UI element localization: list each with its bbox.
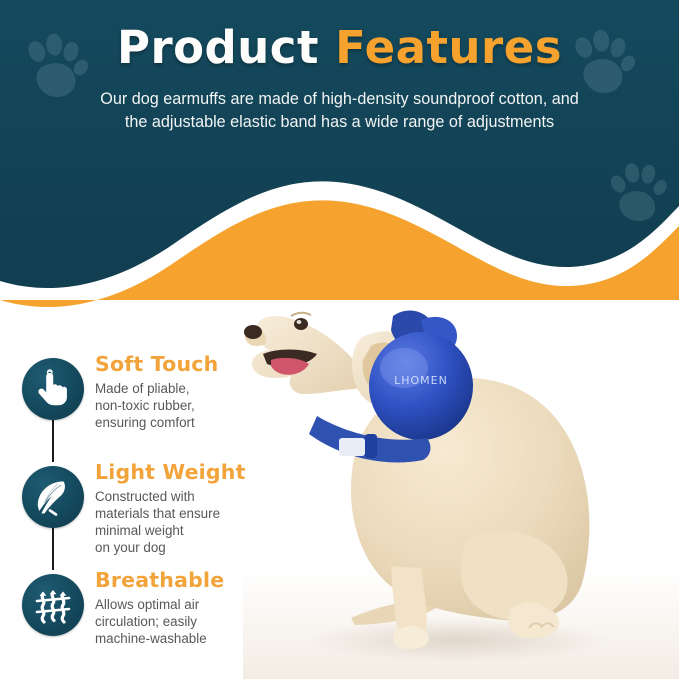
page-title: Product Features <box>0 24 679 71</box>
svg-text:LHOMEN: LHOMEN <box>394 374 448 387</box>
feature-description: Constructed with materials that ensure m… <box>95 488 280 557</box>
feature-text-light-weight: Light Weight Constructed with materials … <box>95 462 280 557</box>
hand-touch-icon <box>22 358 84 420</box>
feature-connector-2 <box>52 528 54 570</box>
feature-title: Soft Touch <box>95 354 280 376</box>
feature-title: Light Weight <box>95 462 280 484</box>
feature-connector-1 <box>52 420 54 462</box>
header-subtitle: Our dog earmuffs are made of high-densit… <box>28 88 651 134</box>
airflow-icon <box>22 574 84 636</box>
feature-title: Breathable <box>95 570 280 592</box>
dog-wearing-earmuffs-photo: LHOMEN <box>243 268 679 679</box>
feature-text-soft-touch: Soft Touch Made of pliable, non-toxic ru… <box>95 354 280 431</box>
header-title-wrap: Product Features <box>0 24 679 71</box>
product-features-infographic: Product Features Our dog earmuffs are ma… <box>0 0 679 679</box>
title-word-features: Features <box>335 21 562 74</box>
subtitle-line-2: the adjustable elastic band has a wide r… <box>28 111 651 134</box>
feature-description: Allows optimal air circulation; easily m… <box>95 596 280 648</box>
feature-text-breathable: Breathable Allows optimal air circulatio… <box>95 570 280 647</box>
subtitle-line-1: Our dog earmuffs are made of high-densit… <box>100 90 578 108</box>
earmuff-cup: LHOMEN <box>369 310 473 440</box>
paw-print-mid-right-icon <box>600 156 670 226</box>
feature-description: Made of pliable, non-toxic rubber, ensur… <box>95 380 280 432</box>
title-word-product: Product <box>117 21 319 74</box>
feather-icon <box>22 466 84 528</box>
